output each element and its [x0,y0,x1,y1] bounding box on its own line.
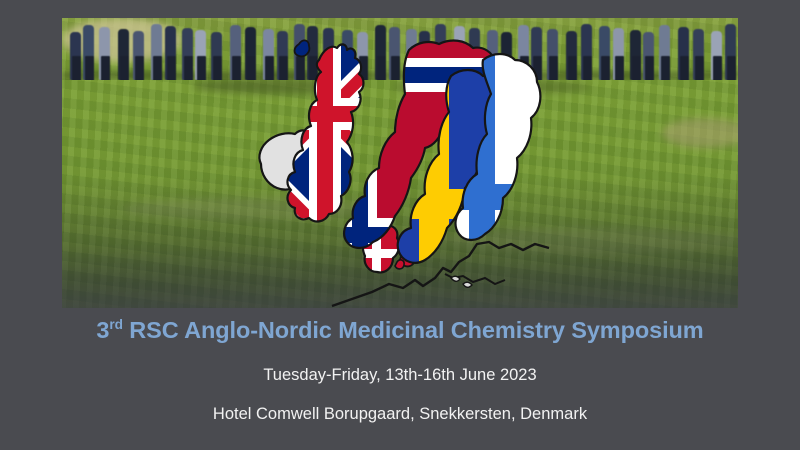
denmark-funen [395,260,404,269]
baltic-islands [451,276,472,287]
caption-block: 3rd RSC Anglo-Nordic Medicinal Chemistry… [0,308,800,424]
title-slide: 3rd RSC Anglo-Nordic Medicinal Chemistry… [0,0,800,450]
uk-northern-isles [295,40,310,56]
anglo-nordic-flag-map [237,16,567,316]
title-ordinal-number: 3 [96,317,109,343]
event-venue: Hotel Comwell Borupgaard, Snekkersten, D… [0,385,800,424]
title-main-text: RSC Anglo-Nordic Medicinal Chemistry Sym… [123,317,704,343]
event-dates: Tuesday-Friday, 13th-16th June 2023 [0,344,800,385]
title-ordinal-suffix: rd [109,317,122,332]
page-title: 3rd RSC Anglo-Nordic Medicinal Chemistry… [0,308,800,344]
